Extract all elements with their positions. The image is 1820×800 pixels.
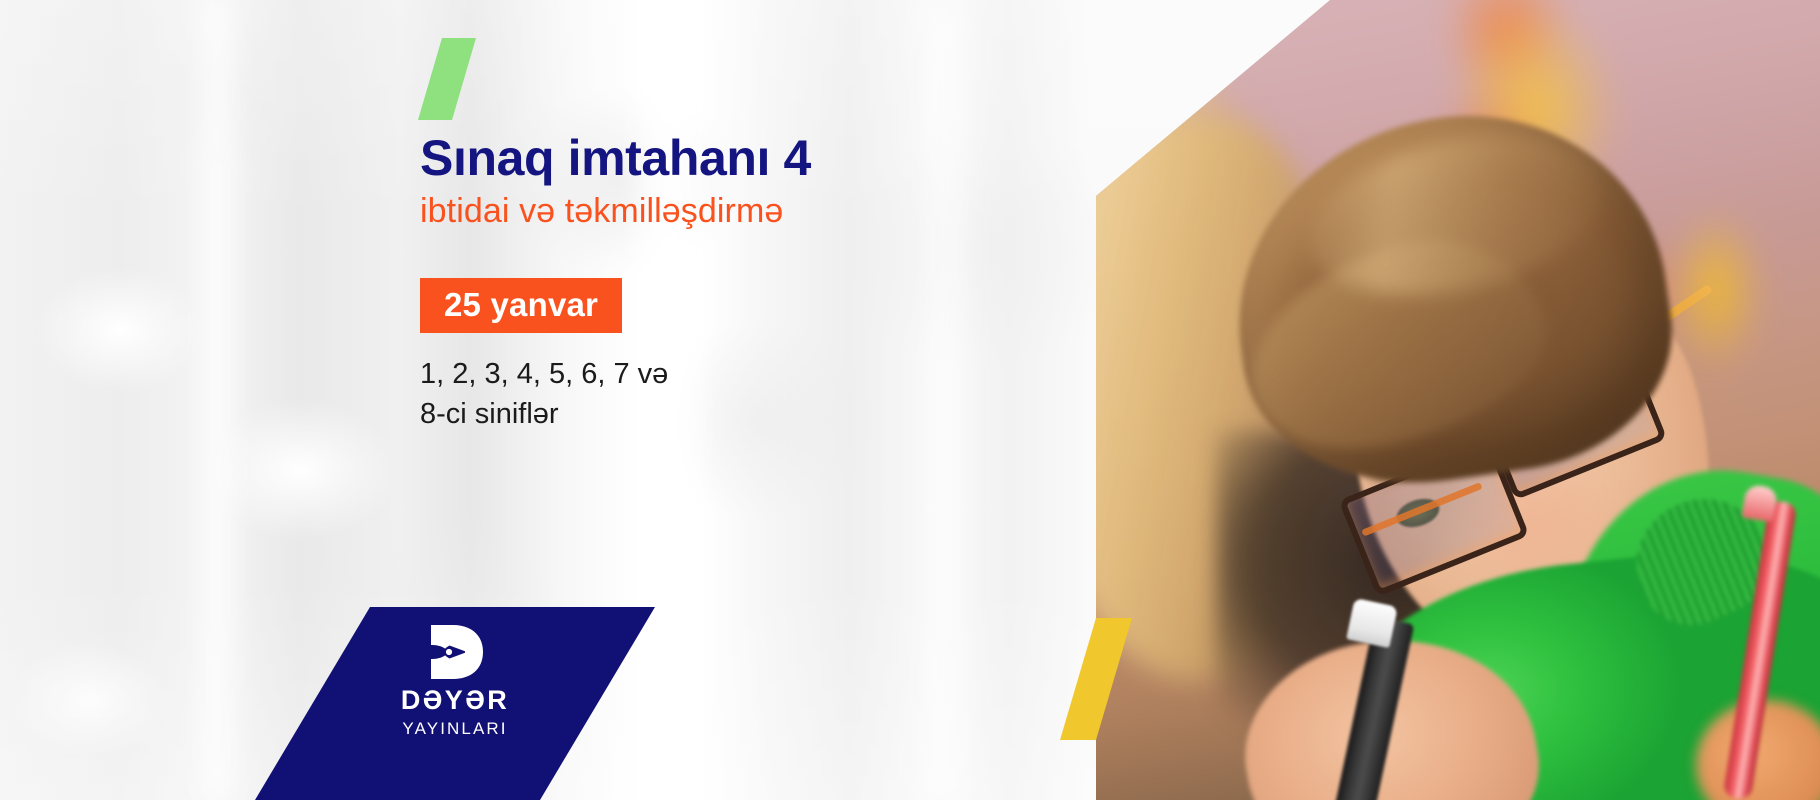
hero-photo <box>1096 0 1820 800</box>
brand-name: DƏYƏR <box>401 687 509 714</box>
date-badge: 25 yanvar <box>420 278 622 333</box>
brand-subtitle: YAYINLARI <box>402 720 507 737</box>
grades-line-2: 8-ci siniflər <box>420 395 811 434</box>
promo-banner: Sınaq imtahanı 4 ibtidai və təkmilləşdir… <box>0 0 1820 800</box>
page-subtitle: ibtidai və təkmilləşdirmə <box>420 193 811 230</box>
grades-line-1: 1, 2, 3, 4, 5, 6, 7 və <box>420 355 811 394</box>
grades-list: 1, 2, 3, 4, 5, 6, 7 və 8-ci siniflər <box>420 355 811 433</box>
copy-block: Sınaq imtahanı 4 ibtidai və təkmilləşdir… <box>420 132 811 434</box>
photo-marker-cap <box>1346 598 1398 648</box>
page-title: Sınaq imtahanı 4 <box>420 132 811 185</box>
pen-nib-d-icon <box>423 623 487 681</box>
